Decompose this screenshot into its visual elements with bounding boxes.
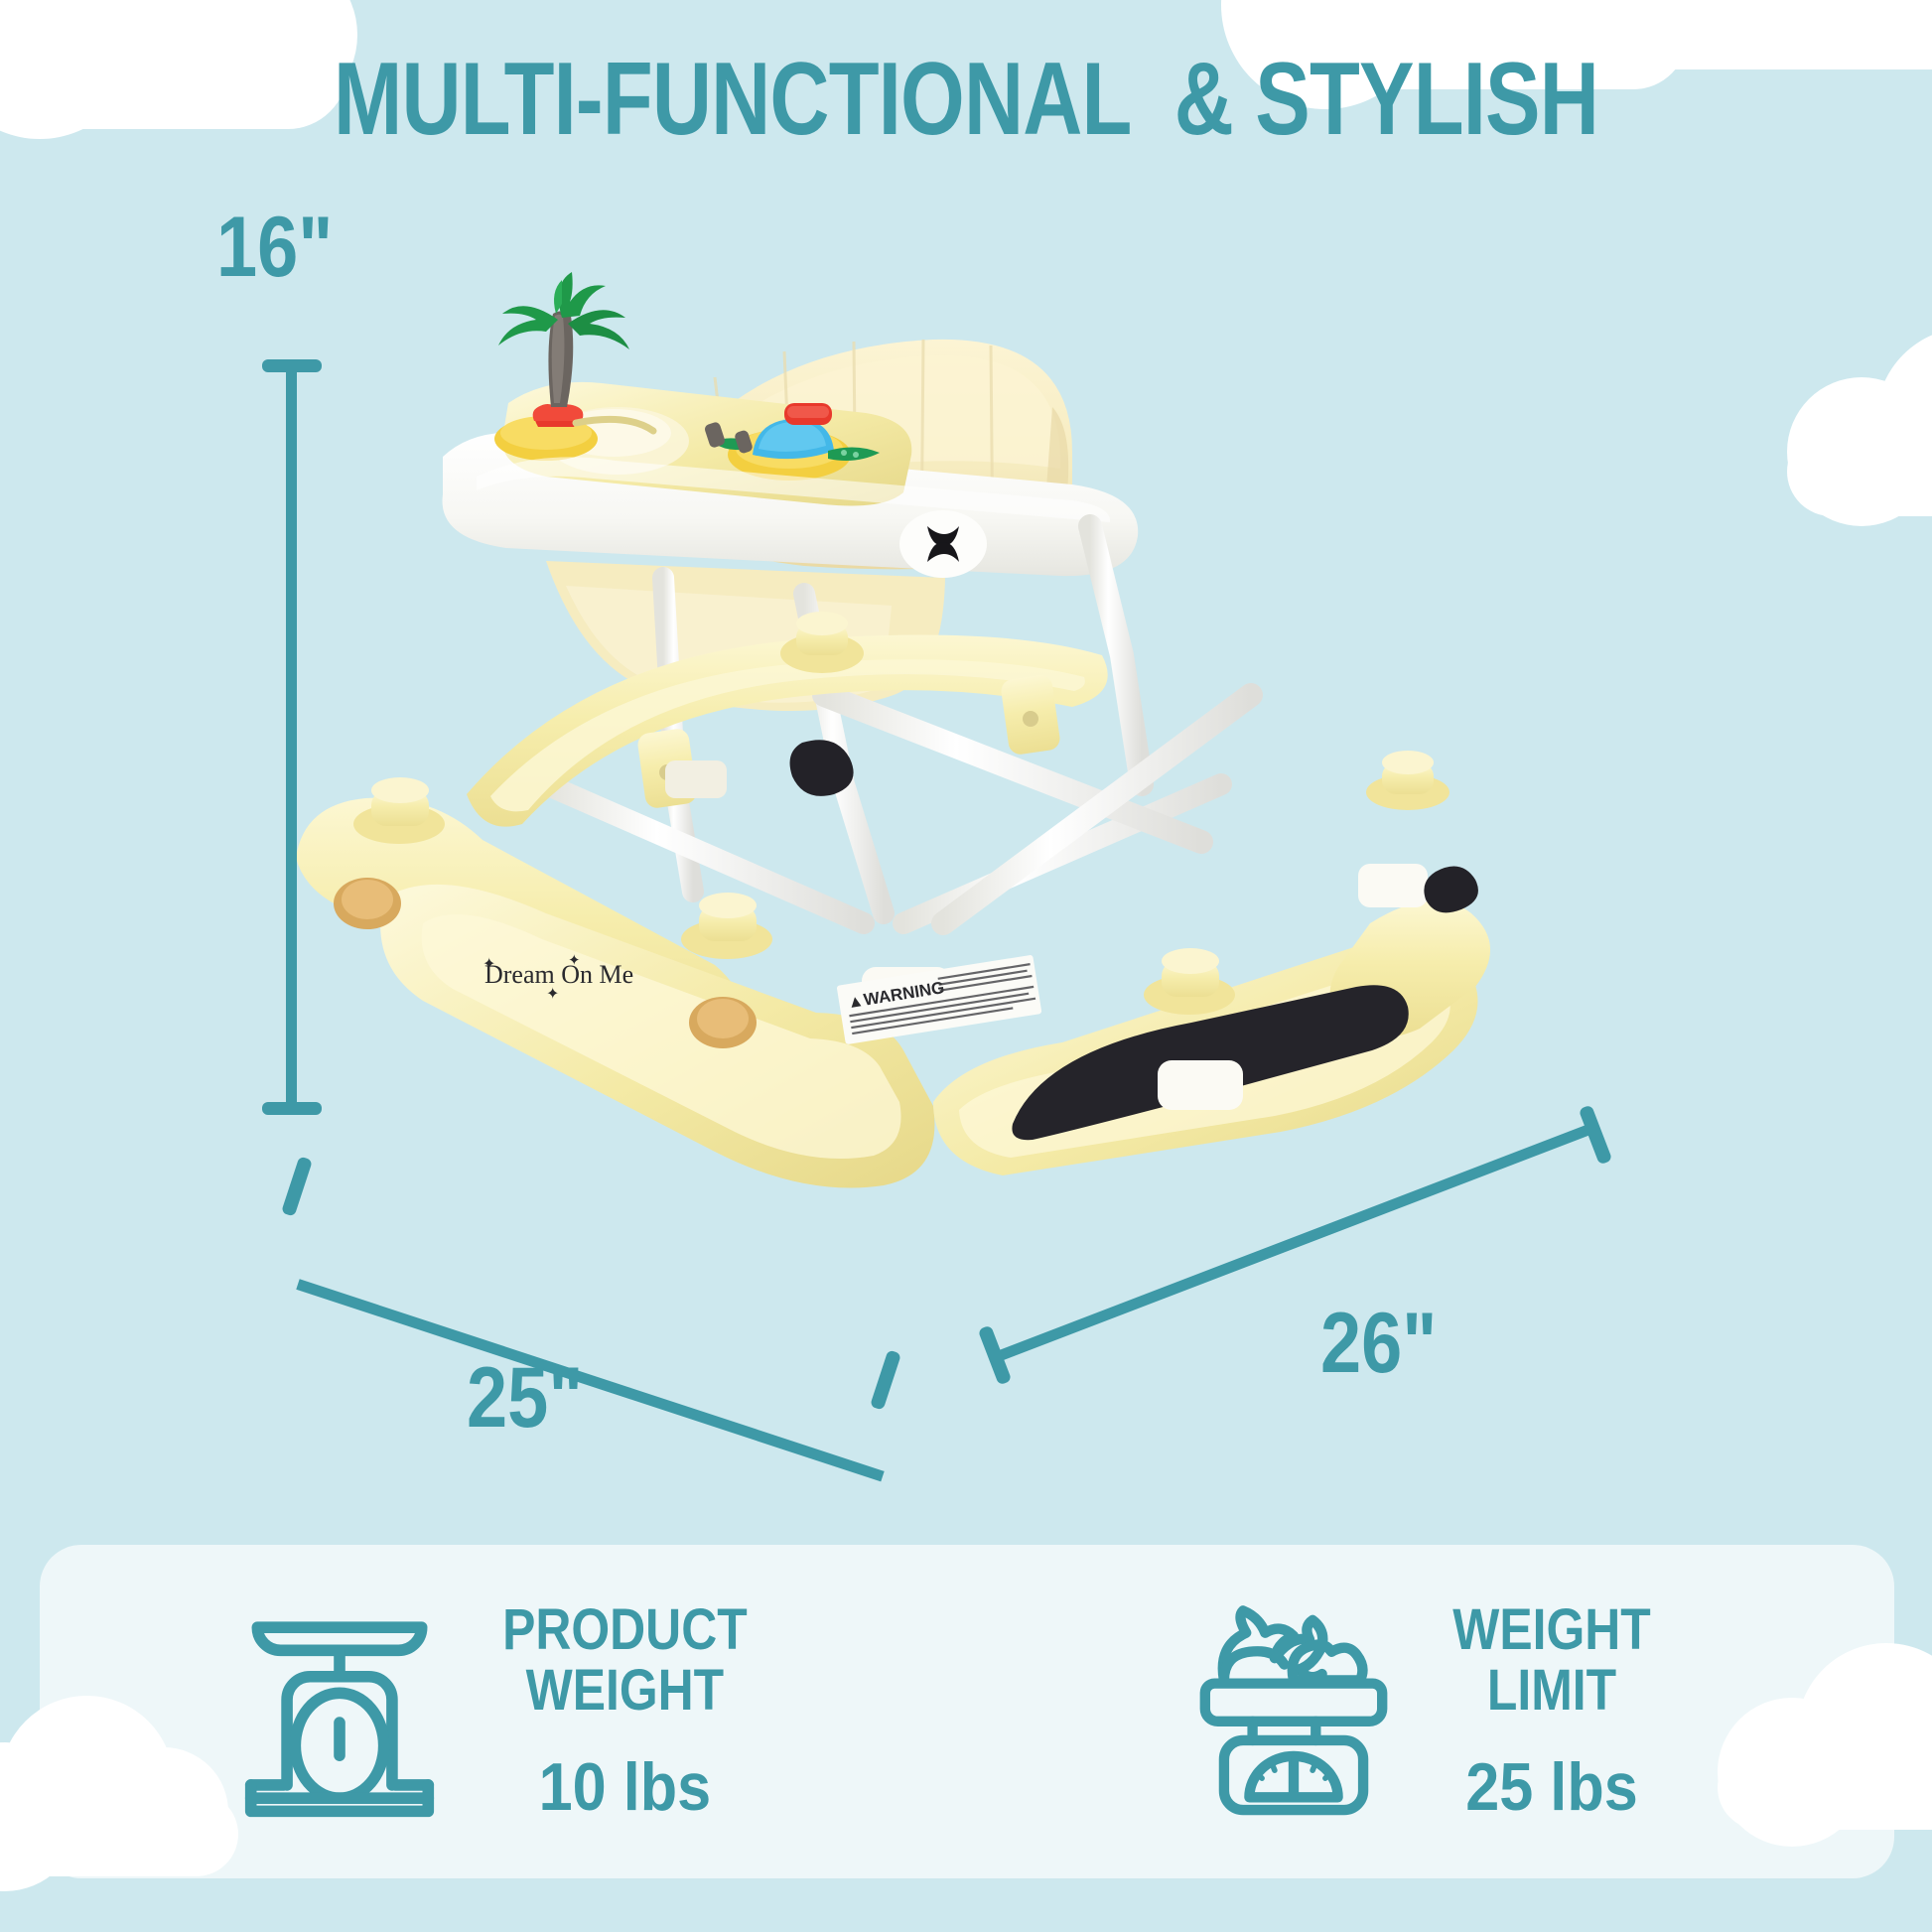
height-dimension-cap-top [262, 359, 322, 372]
spec-line2: WEIGHT [502, 1661, 748, 1720]
specs-card: PRODUCT WEIGHT 10 lbs WEIG [40, 1545, 1894, 1878]
height-dimension-line [286, 365, 297, 1112]
height-dimension-label: 16" [216, 205, 333, 290]
base-knob-front [681, 893, 772, 959]
spec-line2: LIMIT [1452, 1661, 1651, 1720]
product-photo-baby-walker: Dream On Me ✦ ✦ ✦ ▲WARNING [248, 228, 1509, 1301]
depth-dimension-label: 25" [467, 1355, 583, 1441]
depth-dimension-line [296, 1279, 884, 1481]
svg-text:✦: ✦ [546, 986, 559, 1003]
spec-value: 25 lbs [1449, 1753, 1656, 1822]
svg-text:Dream On Me: Dream On Me [484, 960, 633, 989]
spec-value: 10 lbs [496, 1753, 753, 1822]
width-dimension-label: 26" [1320, 1301, 1437, 1386]
spec-line1: PRODUCT [502, 1600, 748, 1659]
svg-text:✦: ✦ [483, 956, 495, 973]
spec-weight-limit: WEIGHT LIMIT 25 lbs [967, 1600, 1894, 1823]
spec-product-weight-text: PRODUCT WEIGHT 10 lbs [483, 1600, 767, 1823]
spec-weight-limit-text: WEIGHT LIMIT 25 lbs [1437, 1600, 1667, 1823]
cloud-right-upper [1787, 318, 1932, 516]
depth-dimension-cap-end [870, 1349, 901, 1410]
height-dimension-cap-bottom [262, 1102, 322, 1115]
page-title: MULTI-FUNCTIONAL & STYLISH [194, 48, 1739, 151]
svg-text:✦: ✦ [568, 952, 581, 969]
base-knob-rear-right [1366, 751, 1449, 810]
kitchen-scale-icon [240, 1604, 439, 1818]
spec-line1: WEIGHT [1452, 1600, 1651, 1659]
base-knob-right [1144, 948, 1235, 1015]
spec-product-weight: PRODUCT WEIGHT 10 lbs [40, 1600, 967, 1823]
base-knob-left [353, 777, 445, 844]
baby-on-scale-icon [1194, 1604, 1393, 1818]
